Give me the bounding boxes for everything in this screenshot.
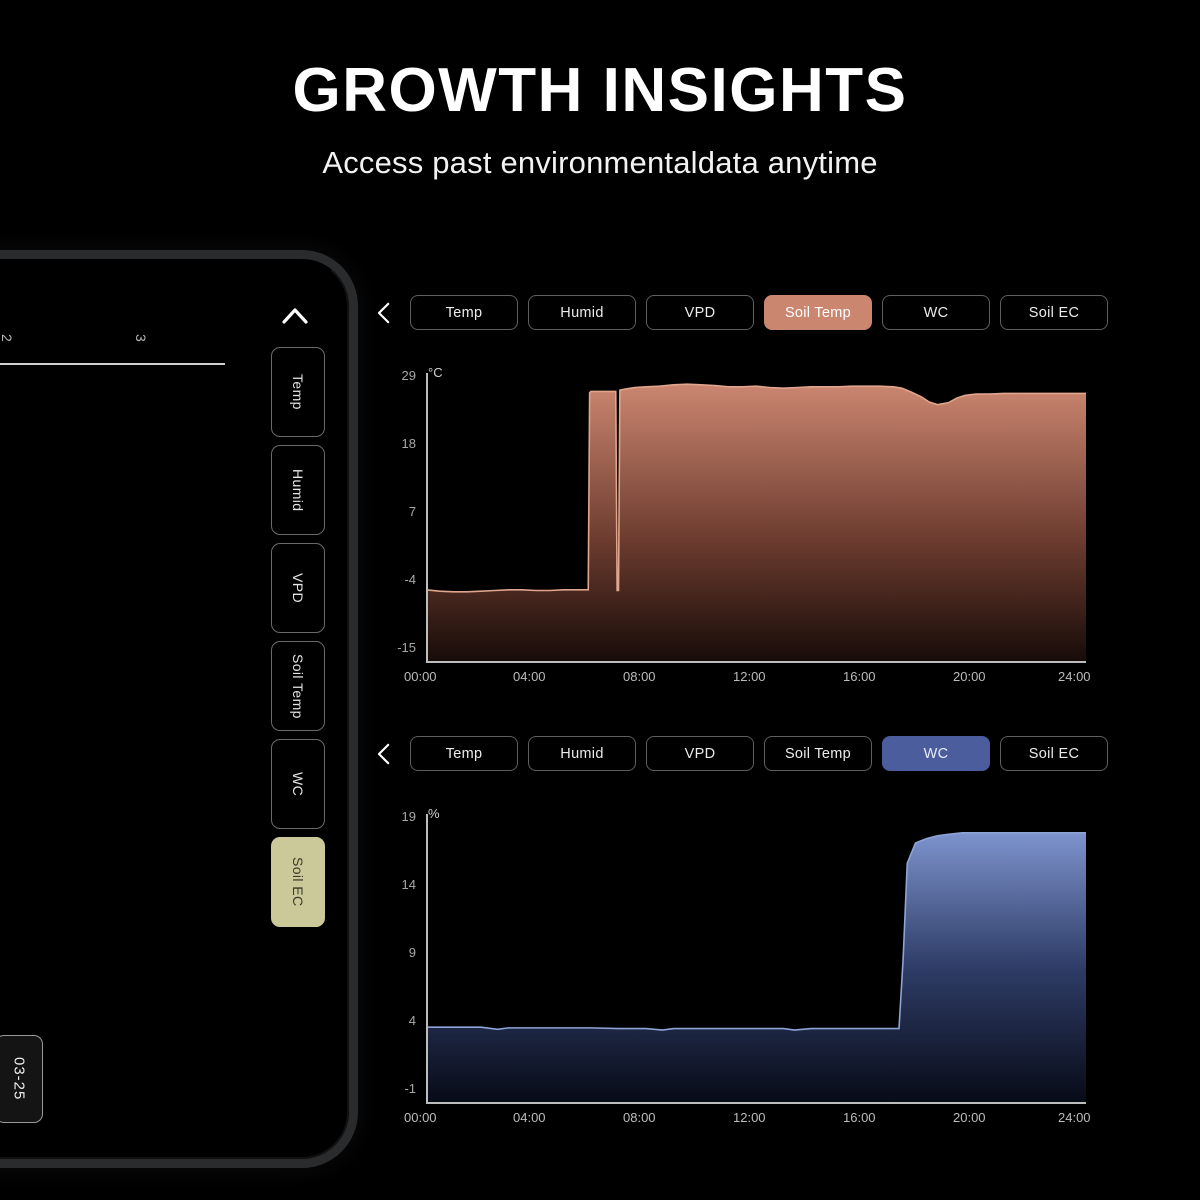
x-tick: 20:00 (953, 669, 986, 684)
phone-date-picker[interactable]: 03-25 (0, 1035, 43, 1123)
y-tick: 14 (382, 877, 416, 892)
y-tick: 9 (382, 945, 416, 960)
y-axis-line (426, 814, 428, 1104)
phone-range-controls: Month Week 24H 03-25 (0, 1035, 43, 1123)
x-tick: 04:00 (513, 669, 546, 684)
tab-label: Soil Temp (785, 305, 851, 321)
y-axis-line (426, 373, 428, 663)
tab-vpd-bottom[interactable]: VPD (646, 736, 754, 771)
page-subtitle: Access past environmentaldata anytime (0, 145, 1200, 181)
tab-vpd-top[interactable]: VPD (646, 295, 754, 330)
y-tick: 29 (382, 368, 416, 383)
tab-label: Soil EC (1029, 305, 1079, 321)
tab-temp-bottom[interactable]: Temp (410, 736, 518, 771)
phone-tab-temp[interactable]: Temp (271, 347, 325, 437)
wc-chart: % 19 14 9 4 -1 00:00 04:00 (382, 798, 1172, 1128)
x-axis-line (426, 661, 1086, 663)
tab-label: Temp (446, 746, 483, 762)
y-tick: 4 (382, 1013, 416, 1028)
phone-power-button[interactable] (357, 549, 358, 661)
tab-soil-ec-bottom[interactable]: Soil EC (1000, 736, 1108, 771)
tab-humid-bottom[interactable]: Humid (528, 736, 636, 771)
tab-temp-top[interactable]: Temp (410, 295, 518, 330)
phone-mockup: Temp Humid VPD Soil Temp WC Soil EC 0 1 … (0, 250, 358, 1168)
soil-temp-plot (426, 373, 1086, 663)
phone-tab-label: Soil EC (290, 857, 306, 906)
phone-tab-wc[interactable]: WC (271, 739, 325, 829)
page-title: GROWTH INSIGHTS (0, 58, 1200, 123)
phone-tab-label: VPD (290, 573, 306, 603)
phone-tab-label: WC (290, 772, 306, 796)
back-button-bottom[interactable] (372, 739, 396, 769)
x-tick: 08:00 (623, 669, 656, 684)
phone-date-label: 03-25 (11, 1057, 28, 1100)
tab-soil-temp-top[interactable]: Soil Temp (764, 295, 872, 330)
x-tick: 24:00 (1058, 1110, 1091, 1125)
x-tick: 08:00 (623, 1110, 656, 1125)
y-tick: -1 (382, 1081, 416, 1096)
hero-header: GROWTH INSIGHTS Access past environmenta… (0, 58, 1200, 181)
wc-plot (426, 814, 1086, 1104)
phone-tab-label: Humid (290, 469, 306, 511)
phone-tab-soil-ec[interactable]: Soil EC (271, 837, 325, 927)
back-button-top[interactable] (372, 298, 396, 328)
phone-tab-humid[interactable]: Humid (271, 445, 325, 535)
tab-label: VPD (685, 746, 716, 762)
tab-soil-temp-bottom[interactable]: Soil Temp (764, 736, 872, 771)
y-tick: 18 (382, 436, 416, 451)
y-tick: -4 (382, 572, 416, 587)
phone-axis-tick: 3 (133, 334, 149, 342)
phone-screen: Temp Humid VPD Soil Temp WC Soil EC 0 1 … (0, 259, 331, 1141)
x-tick: 12:00 (733, 669, 766, 684)
tab-humid-top[interactable]: Humid (528, 295, 636, 330)
x-tick: 24:00 (1058, 669, 1091, 684)
tab-label: Humid (560, 305, 603, 321)
chevron-left-icon (374, 741, 394, 767)
soil-temp-chart: °C 29 18 7 -4 -15 00:00 04:00 (382, 357, 1172, 687)
y-tick: 19 (382, 809, 416, 824)
poster-root: GROWTH INSIGHTS Access past environmenta… (0, 0, 1200, 1200)
y-tick: 7 (382, 504, 416, 519)
x-tick: 00:00 (404, 669, 437, 684)
x-tick: 12:00 (733, 1110, 766, 1125)
phone-tab-label: Temp (290, 374, 306, 410)
phone-volume-button[interactable] (357, 689, 358, 749)
x-tick: 20:00 (953, 1110, 986, 1125)
phone-chart-axis: 0 1 2 3 (0, 334, 249, 364)
tab-label: Humid (560, 746, 603, 762)
tab-label: Soil EC (1029, 746, 1079, 762)
tab-soil-ec-top[interactable]: Soil EC (1000, 295, 1108, 330)
tab-wc-bottom[interactable]: WC (882, 736, 990, 771)
y-tick: -15 (382, 640, 416, 655)
x-tick: 16:00 (843, 669, 876, 684)
tab-wc-top[interactable]: WC (882, 295, 990, 330)
x-tick: 04:00 (513, 1110, 546, 1125)
tab-label: WC (924, 746, 949, 762)
soil-temp-tabrow: Temp Humid VPD Soil Temp WC Soil EC (372, 295, 1108, 330)
x-tick: 16:00 (843, 1110, 876, 1125)
phone-axis-tick: 2 (0, 334, 15, 342)
wc-tabrow: Temp Humid VPD Soil Temp WC Soil EC (372, 736, 1108, 771)
phone-tab-soil-temp[interactable]: Soil Temp (271, 641, 325, 731)
chevron-left-icon (374, 300, 394, 326)
tab-label: Temp (446, 305, 483, 321)
phone-metric-tabs: Temp Humid VPD Soil Temp WC Soil EC (271, 347, 323, 935)
phone-axis-line (0, 363, 225, 365)
tab-label: Soil Temp (785, 746, 851, 762)
x-tick: 00:00 (404, 1110, 437, 1125)
phone-tab-vpd[interactable]: VPD (271, 543, 325, 633)
tab-label: VPD (685, 305, 716, 321)
tab-label: WC (924, 305, 949, 321)
phone-tab-label: Soil Temp (290, 654, 306, 719)
x-axis-line (426, 1102, 1086, 1104)
phone-back-chevron-up-icon[interactable] (278, 299, 312, 333)
